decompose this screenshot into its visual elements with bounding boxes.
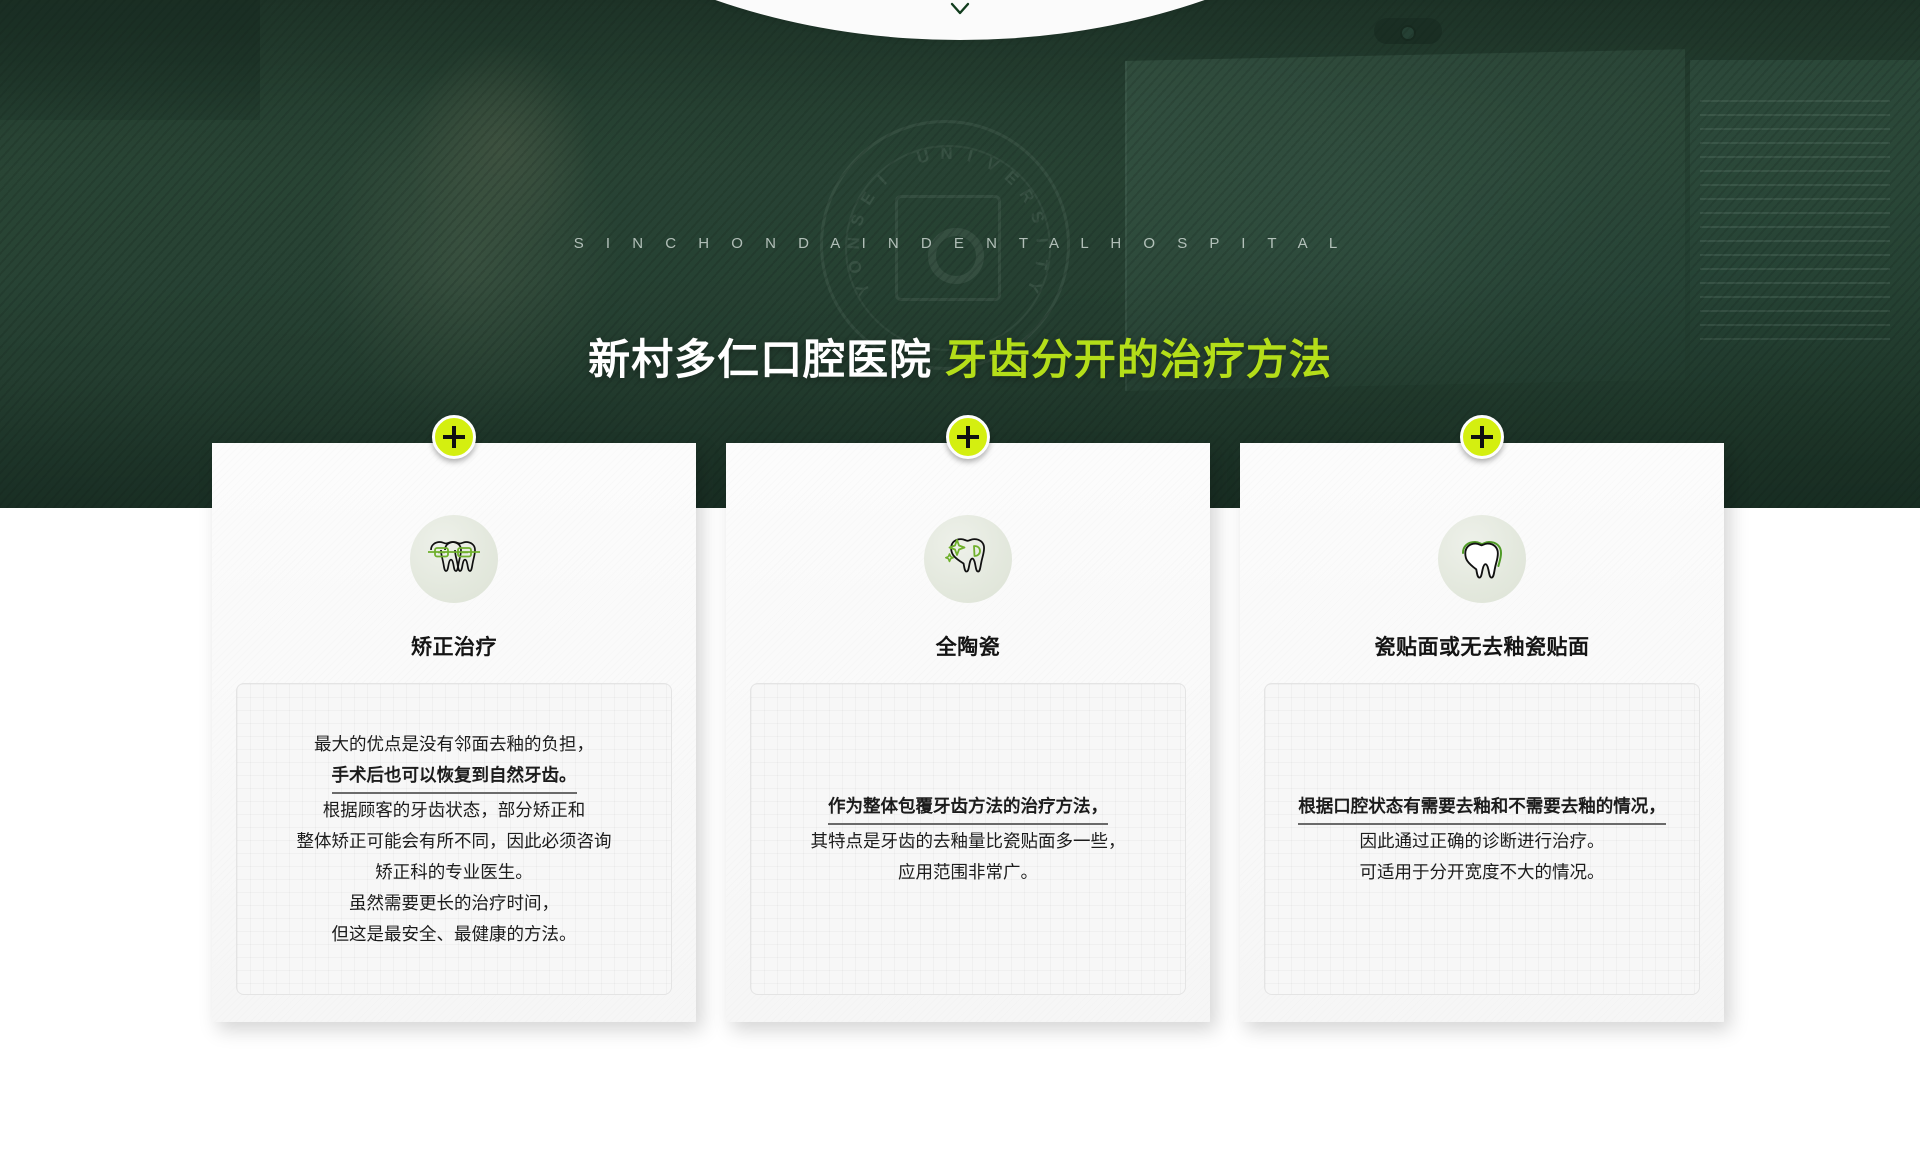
card-text-line-normal: 矫正科的专业医生。 bbox=[237, 857, 671, 888]
card-text-line: 应用范围非常广。 bbox=[751, 857, 1185, 888]
veneer-tooth-icon bbox=[1457, 534, 1507, 584]
card-text-line-normal: 其特点是牙齿的去釉量比瓷贴面多一些， bbox=[751, 826, 1185, 857]
card-description-text: 作为整体包覆牙齿方法的治疗方法，其特点是牙齿的去釉量比瓷贴面多一些，应用范围非常… bbox=[751, 791, 1185, 888]
card-text-line-normal: 因此通过正确的诊断进行治疗。 bbox=[1265, 826, 1699, 857]
card-text-line: 最大的优点是没有邻面去釉的负担， bbox=[237, 729, 671, 760]
card-text-line-emphasis: 根据口腔状态有需要去釉和不需要去釉的情况， bbox=[1298, 791, 1666, 825]
card-description-box: 最大的优点是没有邻面去釉的负担，手术后也可以恢复到自然牙齿。根据顾客的牙齿状态，… bbox=[236, 683, 672, 995]
page-title-accent: 牙齿分开的治疗方法 bbox=[945, 336, 1332, 383]
card-text-line: 矫正科的专业医生。 bbox=[237, 857, 671, 888]
veneer-tooth-icon-wrap bbox=[1438, 515, 1526, 603]
plus-icon[interactable] bbox=[432, 415, 476, 459]
card-text-line-normal: 最大的优点是没有邻面去釉的负担， bbox=[237, 729, 671, 760]
card-text-line: 因此通过正确的诊断进行治疗。 bbox=[1265, 826, 1699, 857]
card-text-line: 其特点是牙齿的去釉量比瓷贴面多一些， bbox=[751, 826, 1185, 857]
card-text-line: 但这是最安全、最健康的方法。 bbox=[237, 919, 671, 950]
card-description-box: 作为整体包覆牙齿方法的治疗方法，其特点是牙齿的去釉量比瓷贴面多一些，应用范围非常… bbox=[750, 683, 1186, 995]
card-title: 矫正治疗 bbox=[212, 631, 696, 661]
hero-eyebrow: S I N C H O N D A I N D E N T A L H O S … bbox=[0, 235, 1920, 252]
card-text-line-normal: 整体矫正可能会有所不同，因此必须咨询 bbox=[237, 826, 671, 857]
card-description-text: 根据口腔状态有需要去釉和不需要去釉的情况，因此通过正确的诊断进行治疗。可适用于分… bbox=[1265, 791, 1699, 888]
plus-icon[interactable] bbox=[946, 415, 990, 459]
card-text-line: 整体矫正可能会有所不同，因此必须咨询 bbox=[237, 826, 671, 857]
treatment-card[interactable]: 全陶瓷作为整体包覆牙齿方法的治疗方法，其特点是牙齿的去釉量比瓷贴面多一些，应用范… bbox=[726, 443, 1210, 1022]
page-root: YONSEI UNIVERSITY S I N C H O N D A I N … bbox=[0, 0, 1920, 1174]
page-title: 新村多仁口腔医院 牙齿分开的治疗方法 bbox=[0, 326, 1920, 387]
card-text-line-normal: 但这是最安全、最健康的方法。 bbox=[237, 919, 671, 950]
card-text-line-emphasis: 手术后也可以恢复到自然牙齿。 bbox=[332, 760, 577, 794]
card-text-line: 根据口腔状态有需要去釉和不需要去釉的情况， bbox=[1265, 791, 1699, 826]
card-description-text: 最大的优点是没有邻面去釉的负担，手术后也可以恢复到自然牙齿。根据顾客的牙齿状态，… bbox=[237, 729, 671, 950]
card-text-line-emphasis: 作为整体包覆牙齿方法的治疗方法， bbox=[828, 791, 1108, 825]
card-text-line: 根据顾客的牙齿状态，部分矫正和 bbox=[237, 795, 671, 826]
plus-icon[interactable] bbox=[1460, 415, 1504, 459]
card-text-line-normal: 虽然需要更长的治疗时间， bbox=[237, 888, 671, 919]
treatment-card[interactable]: 矫正治疗最大的优点是没有邻面去釉的负担，手术后也可以恢复到自然牙齿。根据顾客的牙… bbox=[212, 443, 696, 1022]
treatment-card[interactable]: 瓷贴面或无去釉瓷贴面根据口腔状态有需要去釉和不需要去釉的情况，因此通过正确的诊断… bbox=[1240, 443, 1724, 1022]
card-text-line: 可适用于分开宽度不大的情况。 bbox=[1265, 857, 1699, 888]
card-text-line-normal: 根据顾客的牙齿状态，部分矫正和 bbox=[237, 795, 671, 826]
card-text-line-normal: 可适用于分开宽度不大的情况。 bbox=[1265, 857, 1699, 888]
braces-teeth-icon bbox=[427, 535, 481, 583]
chevron-down-icon[interactable] bbox=[947, 0, 973, 26]
card-text-line: 虽然需要更长的治疗时间， bbox=[237, 888, 671, 919]
plus-horizontal-stroke bbox=[1471, 435, 1493, 439]
plus-horizontal-stroke bbox=[443, 435, 465, 439]
card-title: 全陶瓷 bbox=[726, 631, 1210, 661]
card-text-line: 作为整体包覆牙齿方法的治疗方法， bbox=[751, 791, 1185, 826]
braces-teeth-icon-wrap bbox=[410, 515, 498, 603]
card-description-box: 根据口腔状态有需要去釉和不需要去釉的情况，因此通过正确的诊断进行治疗。可适用于分… bbox=[1264, 683, 1700, 995]
treatment-cards: 矫正治疗最大的优点是没有邻面去釉的负担，手术后也可以恢复到自然牙齿。根据顾客的牙… bbox=[212, 443, 1724, 1033]
sparkle-tooth-icon-wrap bbox=[924, 515, 1012, 603]
plus-horizontal-stroke bbox=[957, 435, 979, 439]
page-title-primary: 新村多仁口腔医院 bbox=[588, 336, 932, 383]
card-text-line-normal: 应用范围非常广。 bbox=[751, 857, 1185, 888]
sparkle-tooth-icon bbox=[943, 534, 993, 584]
card-title: 瓷贴面或无去釉瓷贴面 bbox=[1240, 631, 1724, 661]
card-text-line: 手术后也可以恢复到自然牙齿。 bbox=[237, 760, 671, 795]
